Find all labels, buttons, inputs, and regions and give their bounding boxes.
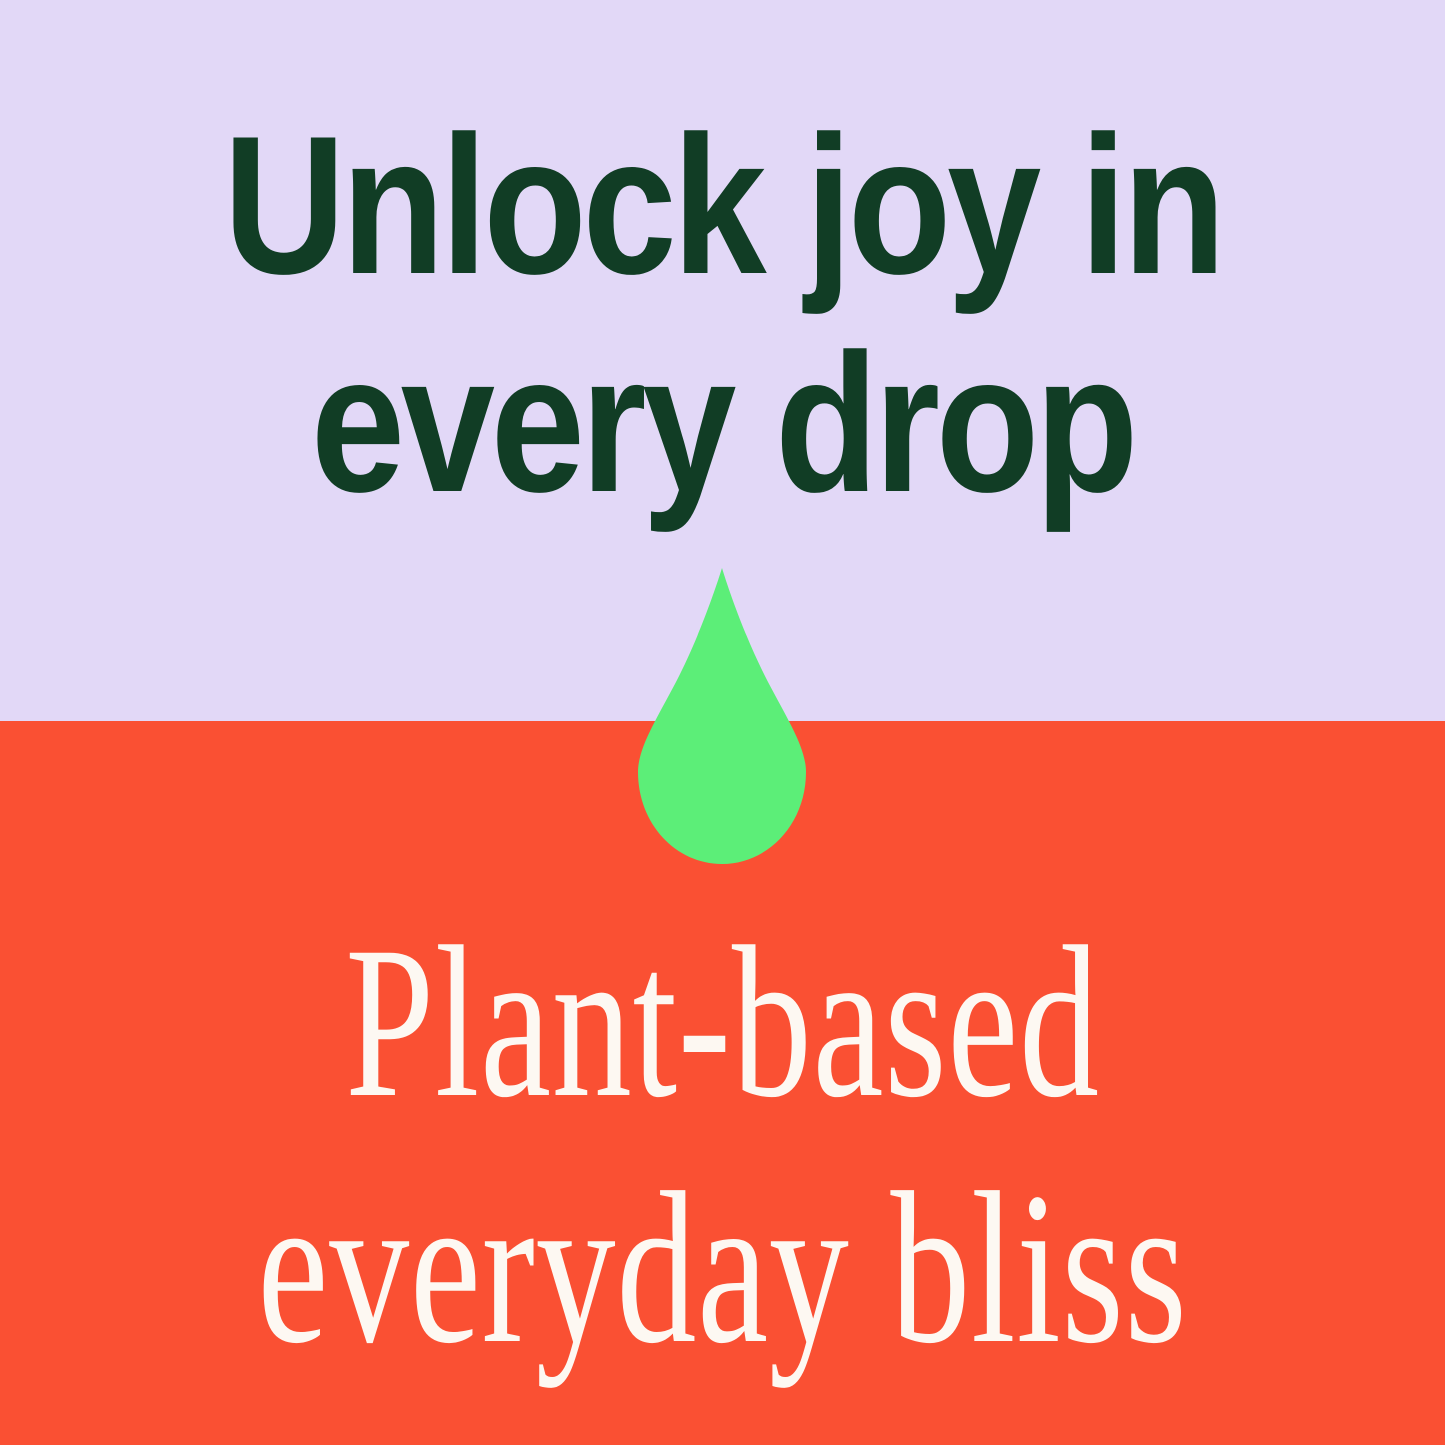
water-droplet-icon: [622, 566, 822, 866]
droplet-graphic: [622, 566, 822, 866]
headline-line-2: every drop: [101, 314, 1344, 532]
subline: Plant-based everyday bliss: [159, 900, 1286, 1392]
subline-line-2: everyday bliss: [159, 1146, 1286, 1392]
headline: Unlock joy in every drop: [101, 96, 1344, 532]
subline-line-1: Plant-based: [159, 900, 1286, 1146]
headline-line-1: Unlock joy in: [101, 96, 1344, 314]
promo-poster: Unlock joy in every drop Plant-based eve…: [0, 0, 1445, 1445]
